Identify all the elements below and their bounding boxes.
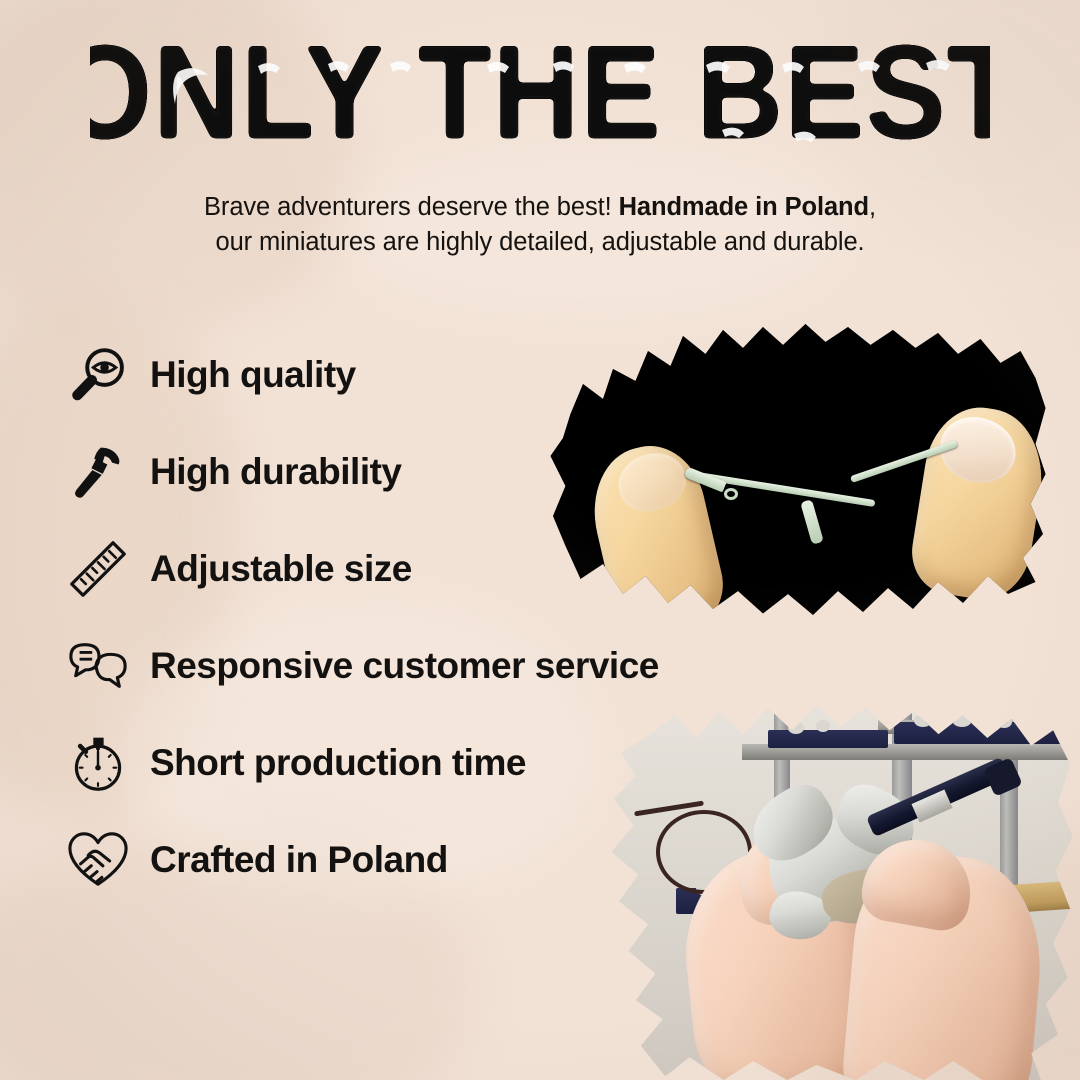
stopwatch-icon bbox=[62, 732, 134, 794]
spear-eyelet bbox=[724, 488, 738, 500]
feature-label: High durability bbox=[150, 451, 402, 493]
subtitle-line-2: our miniatures are highly detailed, adju… bbox=[0, 225, 1080, 260]
headline-text: ONLY THE BEST bbox=[90, 34, 990, 169]
heart-handshake-icon bbox=[62, 829, 134, 891]
speech-bubbles-icon bbox=[62, 635, 134, 697]
feature-row: Short production time bbox=[62, 714, 659, 811]
miniature-fleck bbox=[788, 722, 804, 734]
miniature-fleck bbox=[816, 720, 830, 732]
feature-row: Responsive customer service bbox=[62, 617, 659, 714]
magnifier-eye-icon bbox=[62, 344, 134, 406]
miniature-fleck bbox=[914, 714, 932, 727]
feature-label: Crafted in Poland bbox=[150, 839, 448, 881]
svg-text:ONLY THE BEST: ONLY THE BEST bbox=[90, 34, 990, 166]
workshop-crafting-photo bbox=[592, 700, 1080, 1080]
headline: ONLY THE BEST bbox=[0, 34, 1080, 169]
feature-row: High quality bbox=[62, 326, 659, 423]
feature-label: High quality bbox=[150, 354, 356, 396]
ruler-icon bbox=[62, 538, 134, 600]
miniature-fleck bbox=[996, 716, 1012, 728]
feature-label: Responsive customer service bbox=[150, 645, 659, 687]
feature-label: Short production time bbox=[150, 742, 526, 784]
feature-list: High quality High durability bbox=[62, 326, 659, 908]
subtitle-line-1: Brave adventurers deserve the best! Hand… bbox=[0, 190, 1080, 225]
subtitle-suffix: , bbox=[869, 193, 876, 221]
hammer-icon bbox=[62, 441, 134, 503]
miniature-tray bbox=[768, 730, 888, 748]
photo-inner bbox=[592, 700, 1080, 1080]
feature-row: Crafted in Poland bbox=[62, 811, 659, 908]
subtitle-bold: Handmade in Poland bbox=[619, 193, 869, 221]
feature-row: High durability bbox=[62, 423, 659, 520]
subtitle-prefix: Brave adventurers deserve the best! bbox=[204, 193, 619, 221]
subtitle: Brave adventurers deserve the best! Hand… bbox=[0, 190, 1080, 260]
feature-row: Adjustable size bbox=[62, 520, 659, 617]
miniature-fleck bbox=[952, 713, 972, 727]
promo-poster: ONLY THE BEST Brave adventure bbox=[0, 0, 1080, 1080]
feature-label: Adjustable size bbox=[150, 548, 412, 590]
